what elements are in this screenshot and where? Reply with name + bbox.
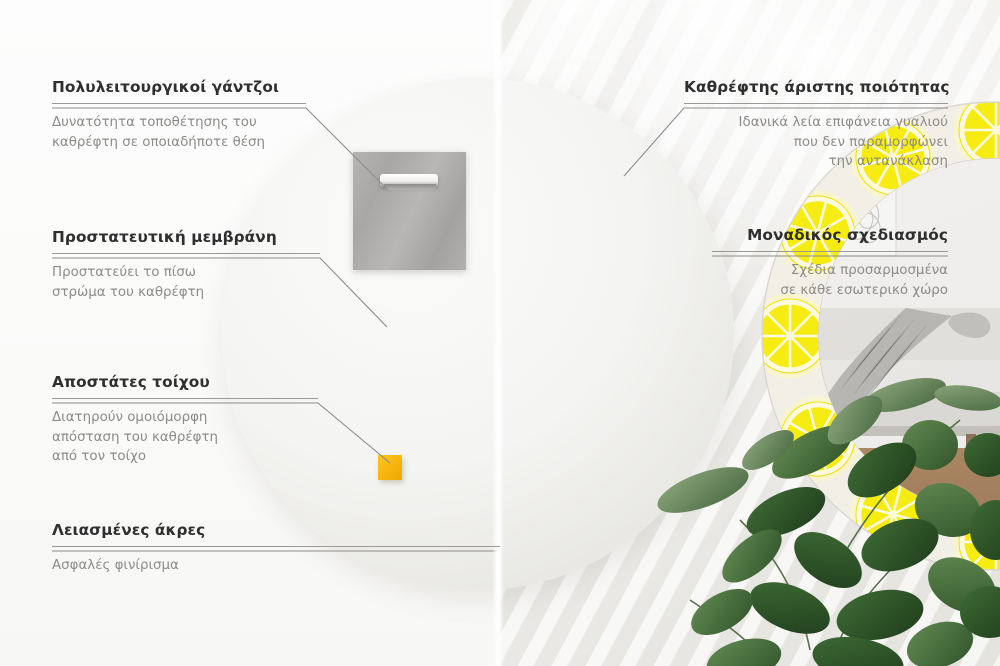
callout-top-quality-mirror: Καθρέφτης άριστης ποιότητας Ιδανικά λεία… — [684, 78, 948, 172]
callout-title: Μοναδικός σχεδιασμός — [712, 226, 948, 244]
infographic-canvas: Πολυλειτουργικοί γάντζοι Δυνατότητα τοπο… — [0, 0, 1000, 666]
callout-title: Αποστάτες τοίχου — [52, 373, 318, 391]
callout-multifunctional-hooks: Πολυλειτουργικοί γάντζοι Δυνατότητα τοπο… — [52, 78, 306, 152]
callout-wall-spacers: Αποστάτες τοίχου Διατηρούν ομοιόμορφη απ… — [52, 373, 318, 467]
callout-description: Ασφαλές φινίρισμα — [52, 556, 500, 576]
callout-protective-membrane: Προστατευτική μεμβράνη Προστατεύει το πί… — [52, 228, 320, 302]
callout-description: Ιδανικά λεία επιφάνεια γυαλιού που δεν π… — [684, 113, 948, 172]
callout-description: Προστατεύει το πίσω στρώμα του καθρέφτη — [52, 263, 320, 302]
callout-rule — [684, 103, 948, 104]
callout-title: Λειασμένες άκρες — [52, 521, 500, 539]
callout-title: Πολυλειτουργικοί γάντζοι — [52, 78, 306, 96]
callout-description: Διατηρούν ομοιόμορφη απόσταση του καθρέφ… — [52, 408, 318, 467]
callout-description: Σχέδια προσαρμοσμένα σε κάθε εσωτερικό χ… — [712, 261, 948, 300]
callout-description: Δυνατότητα τοποθέτησης του καθρέφτη σε ο… — [52, 113, 306, 152]
callout-rule — [52, 253, 320, 254]
callout-rule — [52, 546, 500, 547]
callout-unique-design: Μοναδικός σχεδιασμός Σχέδια προσαρμοσμέν… — [712, 226, 948, 300]
callout-smoothed-edges: Λειασμένες άκρες Ασφαλές φινίρισμα — [52, 521, 500, 576]
callout-title: Προστατευτική μεμβράνη — [52, 228, 320, 246]
callout-rule — [52, 398, 318, 399]
callout-rule — [712, 251, 948, 252]
callout-rule — [52, 103, 306, 104]
callout-title: Καθρέφτης άριστης ποιότητας — [684, 78, 948, 96]
